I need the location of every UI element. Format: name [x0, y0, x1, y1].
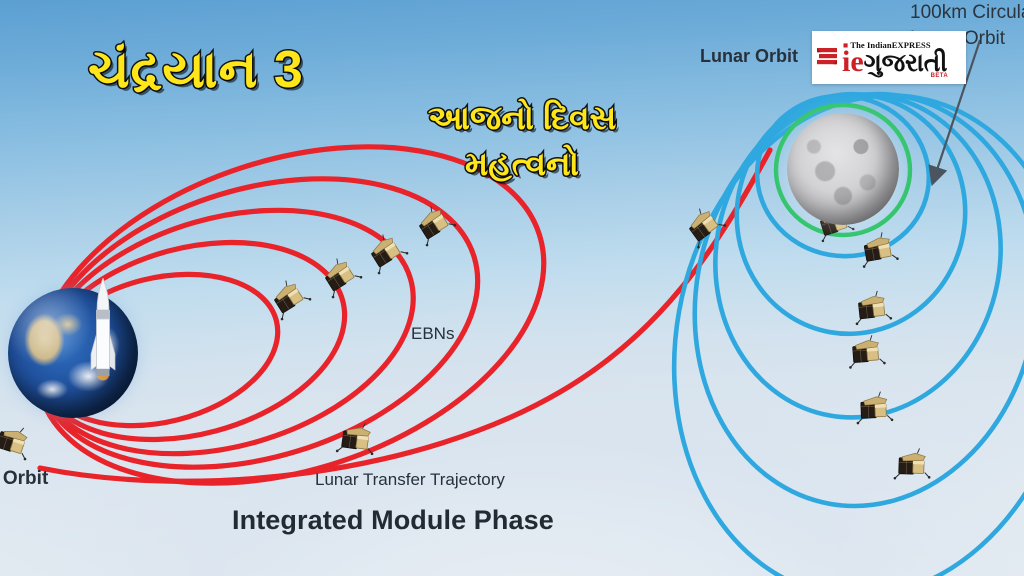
- logo-edition-gujarati: ગુજરાતી: [864, 53, 947, 75]
- headline-title: ચંદ્રયાન 3: [88, 40, 304, 101]
- label-earth-orbit: h Orbit: [0, 468, 48, 490]
- express-bars-icon: [817, 45, 839, 71]
- moon-globe: [787, 113, 899, 225]
- masthead-express: EXPRESS: [892, 40, 931, 50]
- label-lunar-transfer-trajectory: Lunar Transfer Trajectory: [315, 470, 505, 490]
- headline-subtitle-line1: આજનો દિવસ: [428, 99, 616, 138]
- label-integrated-module-phase: Integrated Module Phase: [232, 505, 554, 536]
- earth-globe: [8, 288, 138, 418]
- logo-ie-mark: ie: [842, 50, 864, 75]
- label-ebns: EBNs: [411, 324, 454, 344]
- indian-express-gujarati-logo[interactable]: ■ The IndianEXPRESS ie ગુજરાતી BETA: [812, 31, 966, 84]
- logo-beta-badge: BETA: [931, 73, 949, 79]
- rocket-icon: [90, 278, 116, 386]
- infographic-canvas: h Orbit EBNs Lunar Transfer Trajectory I…: [0, 0, 1024, 576]
- label-lunar-orbit: Lunar Orbit: [700, 46, 798, 67]
- headline-subtitle-line2: મહત્વનો: [465, 145, 579, 184]
